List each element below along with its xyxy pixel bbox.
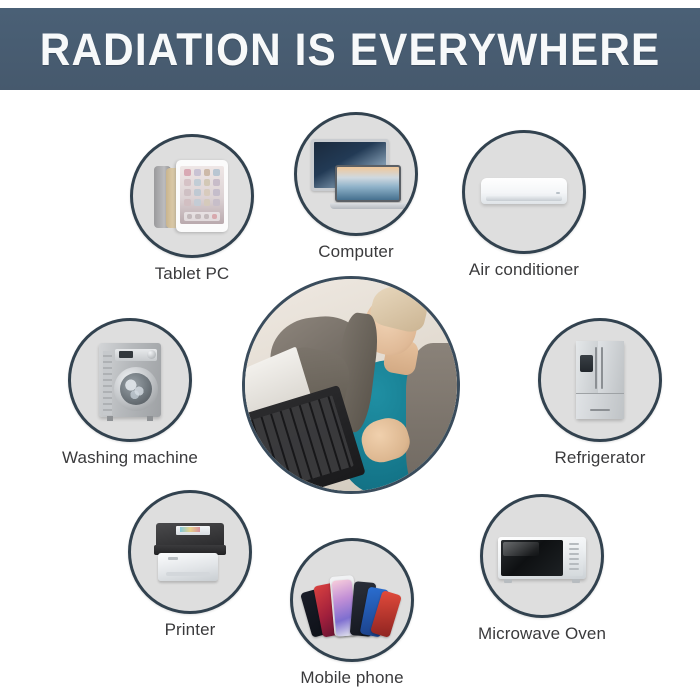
- refrigerator-label: Refrigerator: [514, 448, 686, 468]
- radiation-infographic-poster: RADIATION IS EVERYWHERE: [0, 0, 700, 700]
- air-conditioner-icon: [473, 152, 575, 232]
- air-conditioner-label: Air conditioner: [434, 260, 614, 280]
- washing-machine-label: Washing machine: [26, 448, 234, 468]
- center-photo-circle: [242, 276, 460, 494]
- microwave-oven-label: Microwave Oven: [446, 624, 638, 644]
- refrigerator-icon: [554, 336, 646, 424]
- pregnant-woman-at-laptop-photo: [245, 279, 457, 491]
- mobile-phone-circle[interactable]: [290, 538, 414, 662]
- computer-circle[interactable]: [294, 112, 418, 236]
- microwave-oven-icon: [492, 515, 592, 597]
- printer-circle[interactable]: [128, 490, 252, 614]
- computer-label: Computer: [274, 242, 438, 262]
- air-conditioner-circle[interactable]: [462, 130, 586, 254]
- tablet-pc-circle[interactable]: [130, 134, 254, 258]
- printer-label: Printer: [110, 620, 270, 640]
- mobile-phone-icon: [304, 564, 400, 636]
- header-banner: RADIATION IS EVERYWHERE: [0, 8, 700, 90]
- washing-machine-circle[interactable]: [68, 318, 192, 442]
- refrigerator-circle[interactable]: [538, 318, 662, 442]
- tablet-pc-label: Tablet PC: [110, 264, 274, 284]
- microwave-oven-circle[interactable]: [480, 494, 604, 618]
- computer-icon: [309, 135, 403, 213]
- printer-icon: [144, 509, 236, 595]
- mobile-phone-label: Mobile phone: [260, 668, 444, 688]
- tablet-icon: [148, 154, 236, 238]
- page-title: RADIATION IS EVERYWHERE: [40, 27, 661, 72]
- washing-machine-icon: [85, 337, 175, 423]
